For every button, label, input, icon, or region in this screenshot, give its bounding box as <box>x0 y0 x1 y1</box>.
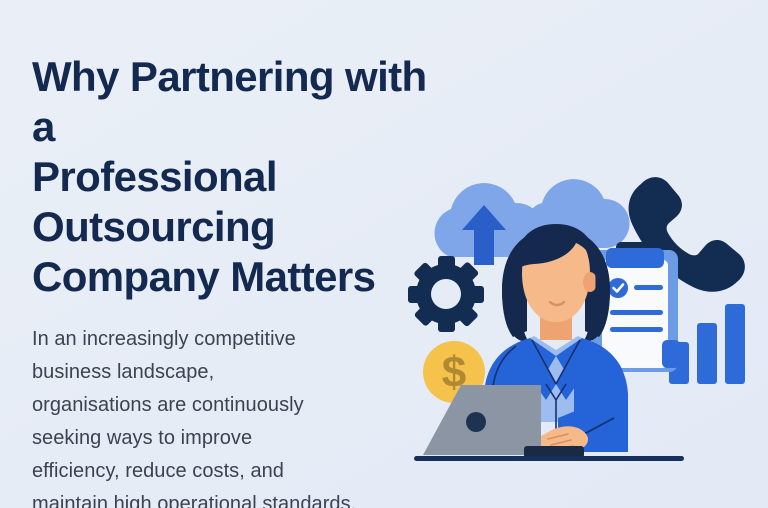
body-paragraph: In an increasingly competitive business … <box>32 302 432 508</box>
page-title: Why Partnering with a Professional Outso… <box>32 52 432 302</box>
outsourcing-workspace-illustration: $ <box>398 160 768 508</box>
desk-line <box>414 456 684 461</box>
bar-chart-icon <box>669 304 745 384</box>
promotional-banner: Why Partnering with a Professional Outso… <box>0 0 768 508</box>
text-column: Why Partnering with a Professional Outso… <box>32 52 432 508</box>
